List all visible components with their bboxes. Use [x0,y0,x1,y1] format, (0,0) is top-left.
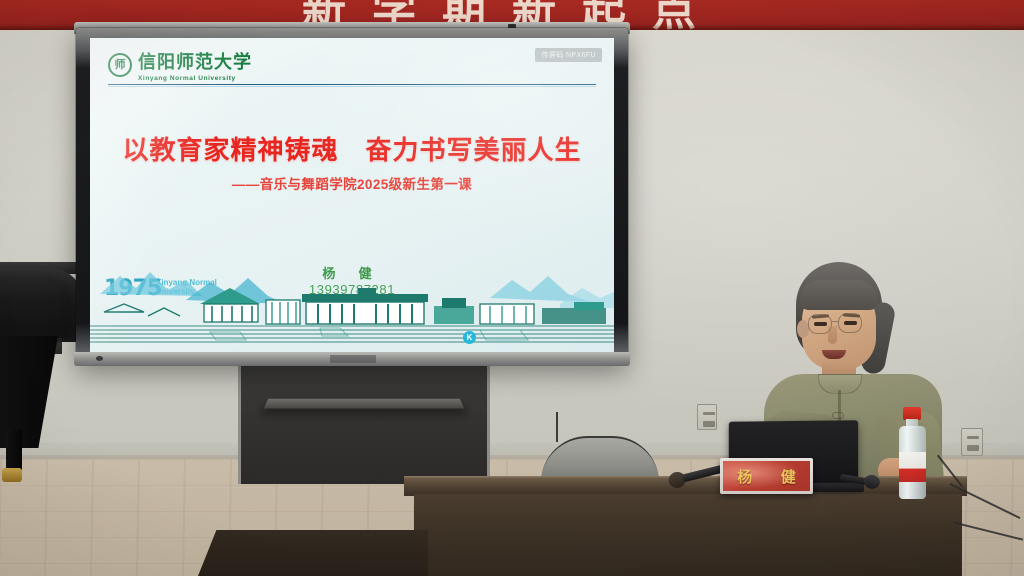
university-logo: 师 信阳师范大学 Xinyang Normal University [108,48,252,82]
cabinet-shelf [264,399,464,409]
display-brand-logo [330,355,376,363]
lecture-hall-scene: 新学期新起点 师 信阳师范大学 Xinyang Normal Universit… [0,0,1024,576]
nameplate-char-2: 健 [781,466,796,487]
display-screen[interactable]: 师 信阳师范大学 Xinyang Normal University 传屏码 N… [90,38,614,352]
nameplate-char-1: 杨 [737,466,752,487]
university-name-cn: 信阳师范大学 [138,48,252,74]
piano-caster [2,468,22,482]
eye-right [844,321,857,325]
frog-button [832,412,844,419]
wall-outlet-icon [961,428,983,456]
university-name-en: Xinyang Normal University [138,75,252,82]
hair-front [800,280,878,310]
grand-piano [0,268,84,342]
slide-subtitle: ——音乐与舞蹈学院2025级新生第一课 [90,173,614,193]
desk-nameplate: 杨 健 [720,458,813,494]
slide-divider [108,84,596,85]
campus-skyline-graphic [90,260,614,352]
slide-title: 以教育家精神铸魂 奋力书写美丽人生 [90,130,614,167]
desk-side-panel [198,530,428,576]
wall-outlet-icon [697,404,717,430]
university-seal-icon: 师 [108,53,132,77]
desk-front-panel [414,494,962,576]
chair-stem [556,412,558,442]
bottle-label [899,452,926,482]
nose [828,326,837,344]
eye-left [814,322,827,326]
presentation-slide[interactable]: 师 信阳师范大学 Xinyang Normal University 传屏码 N… [90,38,614,352]
av-cabinet [238,366,490,484]
nameplate-inner: 杨 健 [723,461,810,491]
water-bottle[interactable] [899,407,926,499]
display-power-led-icon [96,356,103,361]
microphone-2-head [863,474,881,490]
glasses-bridge [832,321,839,322]
screen-share-code-badge: 传屏码 NPX6FU [535,48,602,62]
wps-logo-icon[interactable]: K [463,331,476,344]
